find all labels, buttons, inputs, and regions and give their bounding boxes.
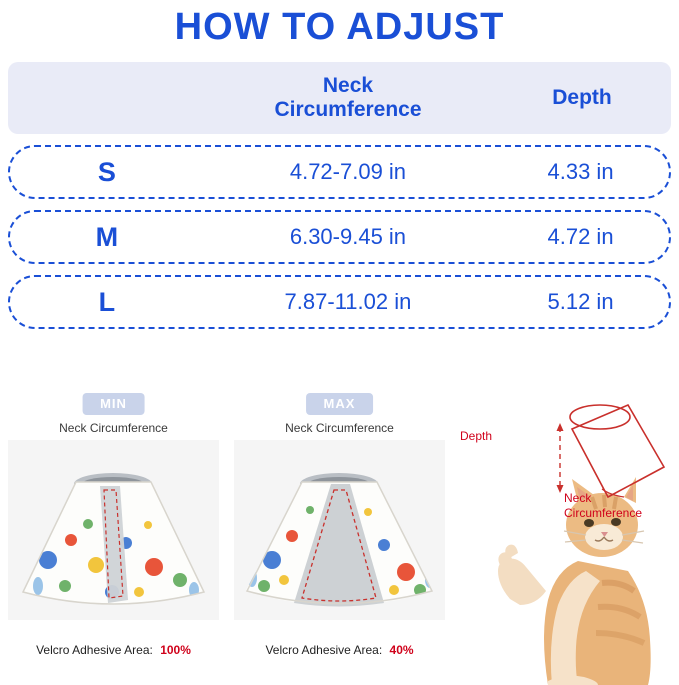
row-neck-value: 7.87-11.02 in xyxy=(204,289,492,315)
table-header-neck: Neck Circumference xyxy=(203,74,493,123)
adjustment-panels: MIN Neck Circumference xyxy=(0,385,679,685)
panel-min-velcro-label: Velcro Adhesive Area: xyxy=(36,643,153,657)
panel-min: MIN Neck Circumference xyxy=(2,385,225,685)
panel-max-velcro-label: Velcro Adhesive Area: xyxy=(265,643,382,657)
panel-max-velcro-value: 40% xyxy=(390,643,414,657)
table-row: S 4.72-7.09 in 4.33 in xyxy=(8,145,671,199)
panel-max-velcro: Velcro Adhesive Area: 40% xyxy=(228,643,451,657)
neck-circumference-label-line2: Circumference xyxy=(564,506,642,521)
panel-max-sublabel: Neck Circumference xyxy=(228,421,451,435)
neck-circumference-label-line1: Neck xyxy=(564,491,642,506)
panel-cat-measurement: Depth Neck Circumference xyxy=(452,385,679,685)
product-infographic: HOW TO ADJUST Neck Circumference Depth S… xyxy=(0,0,679,685)
table-row: L 7.87-11.02 in 5.12 in xyxy=(8,275,671,329)
table-header-row: Neck Circumference Depth xyxy=(8,62,671,134)
panel-min-velcro-value: 100% xyxy=(160,643,191,657)
table-row: M 6.30-9.45 in 4.72 in xyxy=(8,210,671,264)
cone-photo-max xyxy=(234,440,445,620)
panel-min-sublabel: Neck Circumference xyxy=(2,421,225,435)
panel-min-badge: MIN xyxy=(82,393,145,415)
row-size-label: L xyxy=(10,287,204,318)
table-header-neck-line1: Neck xyxy=(203,74,493,98)
row-depth-value: 4.33 in xyxy=(492,159,669,185)
row-neck-value: 6.30-9.45 in xyxy=(204,224,492,250)
size-table: Neck Circumference Depth S 4.72-7.09 in … xyxy=(8,62,671,329)
page-title: HOW TO ADJUST xyxy=(0,6,679,49)
panel-max-badge: MAX xyxy=(306,393,374,415)
table-header-neck-line2: Circumference xyxy=(203,98,493,122)
row-neck-value: 4.72-7.09 in xyxy=(204,159,492,185)
panel-max: MAX Neck Circumference xyxy=(228,385,451,685)
depth-label: Depth xyxy=(460,429,492,443)
cone-photo-min xyxy=(8,440,219,620)
row-depth-value: 5.12 in xyxy=(492,289,669,315)
row-size-label: M xyxy=(10,222,204,253)
cone-max-illustration xyxy=(234,440,445,620)
row-size-label: S xyxy=(10,157,204,188)
panel-min-velcro: Velcro Adhesive Area: 100% xyxy=(2,643,225,657)
table-header-depth: Depth xyxy=(493,86,671,110)
cone-min-illustration xyxy=(8,440,219,620)
row-depth-value: 4.72 in xyxy=(492,224,669,250)
neck-circumference-label: Neck Circumference xyxy=(564,491,642,521)
